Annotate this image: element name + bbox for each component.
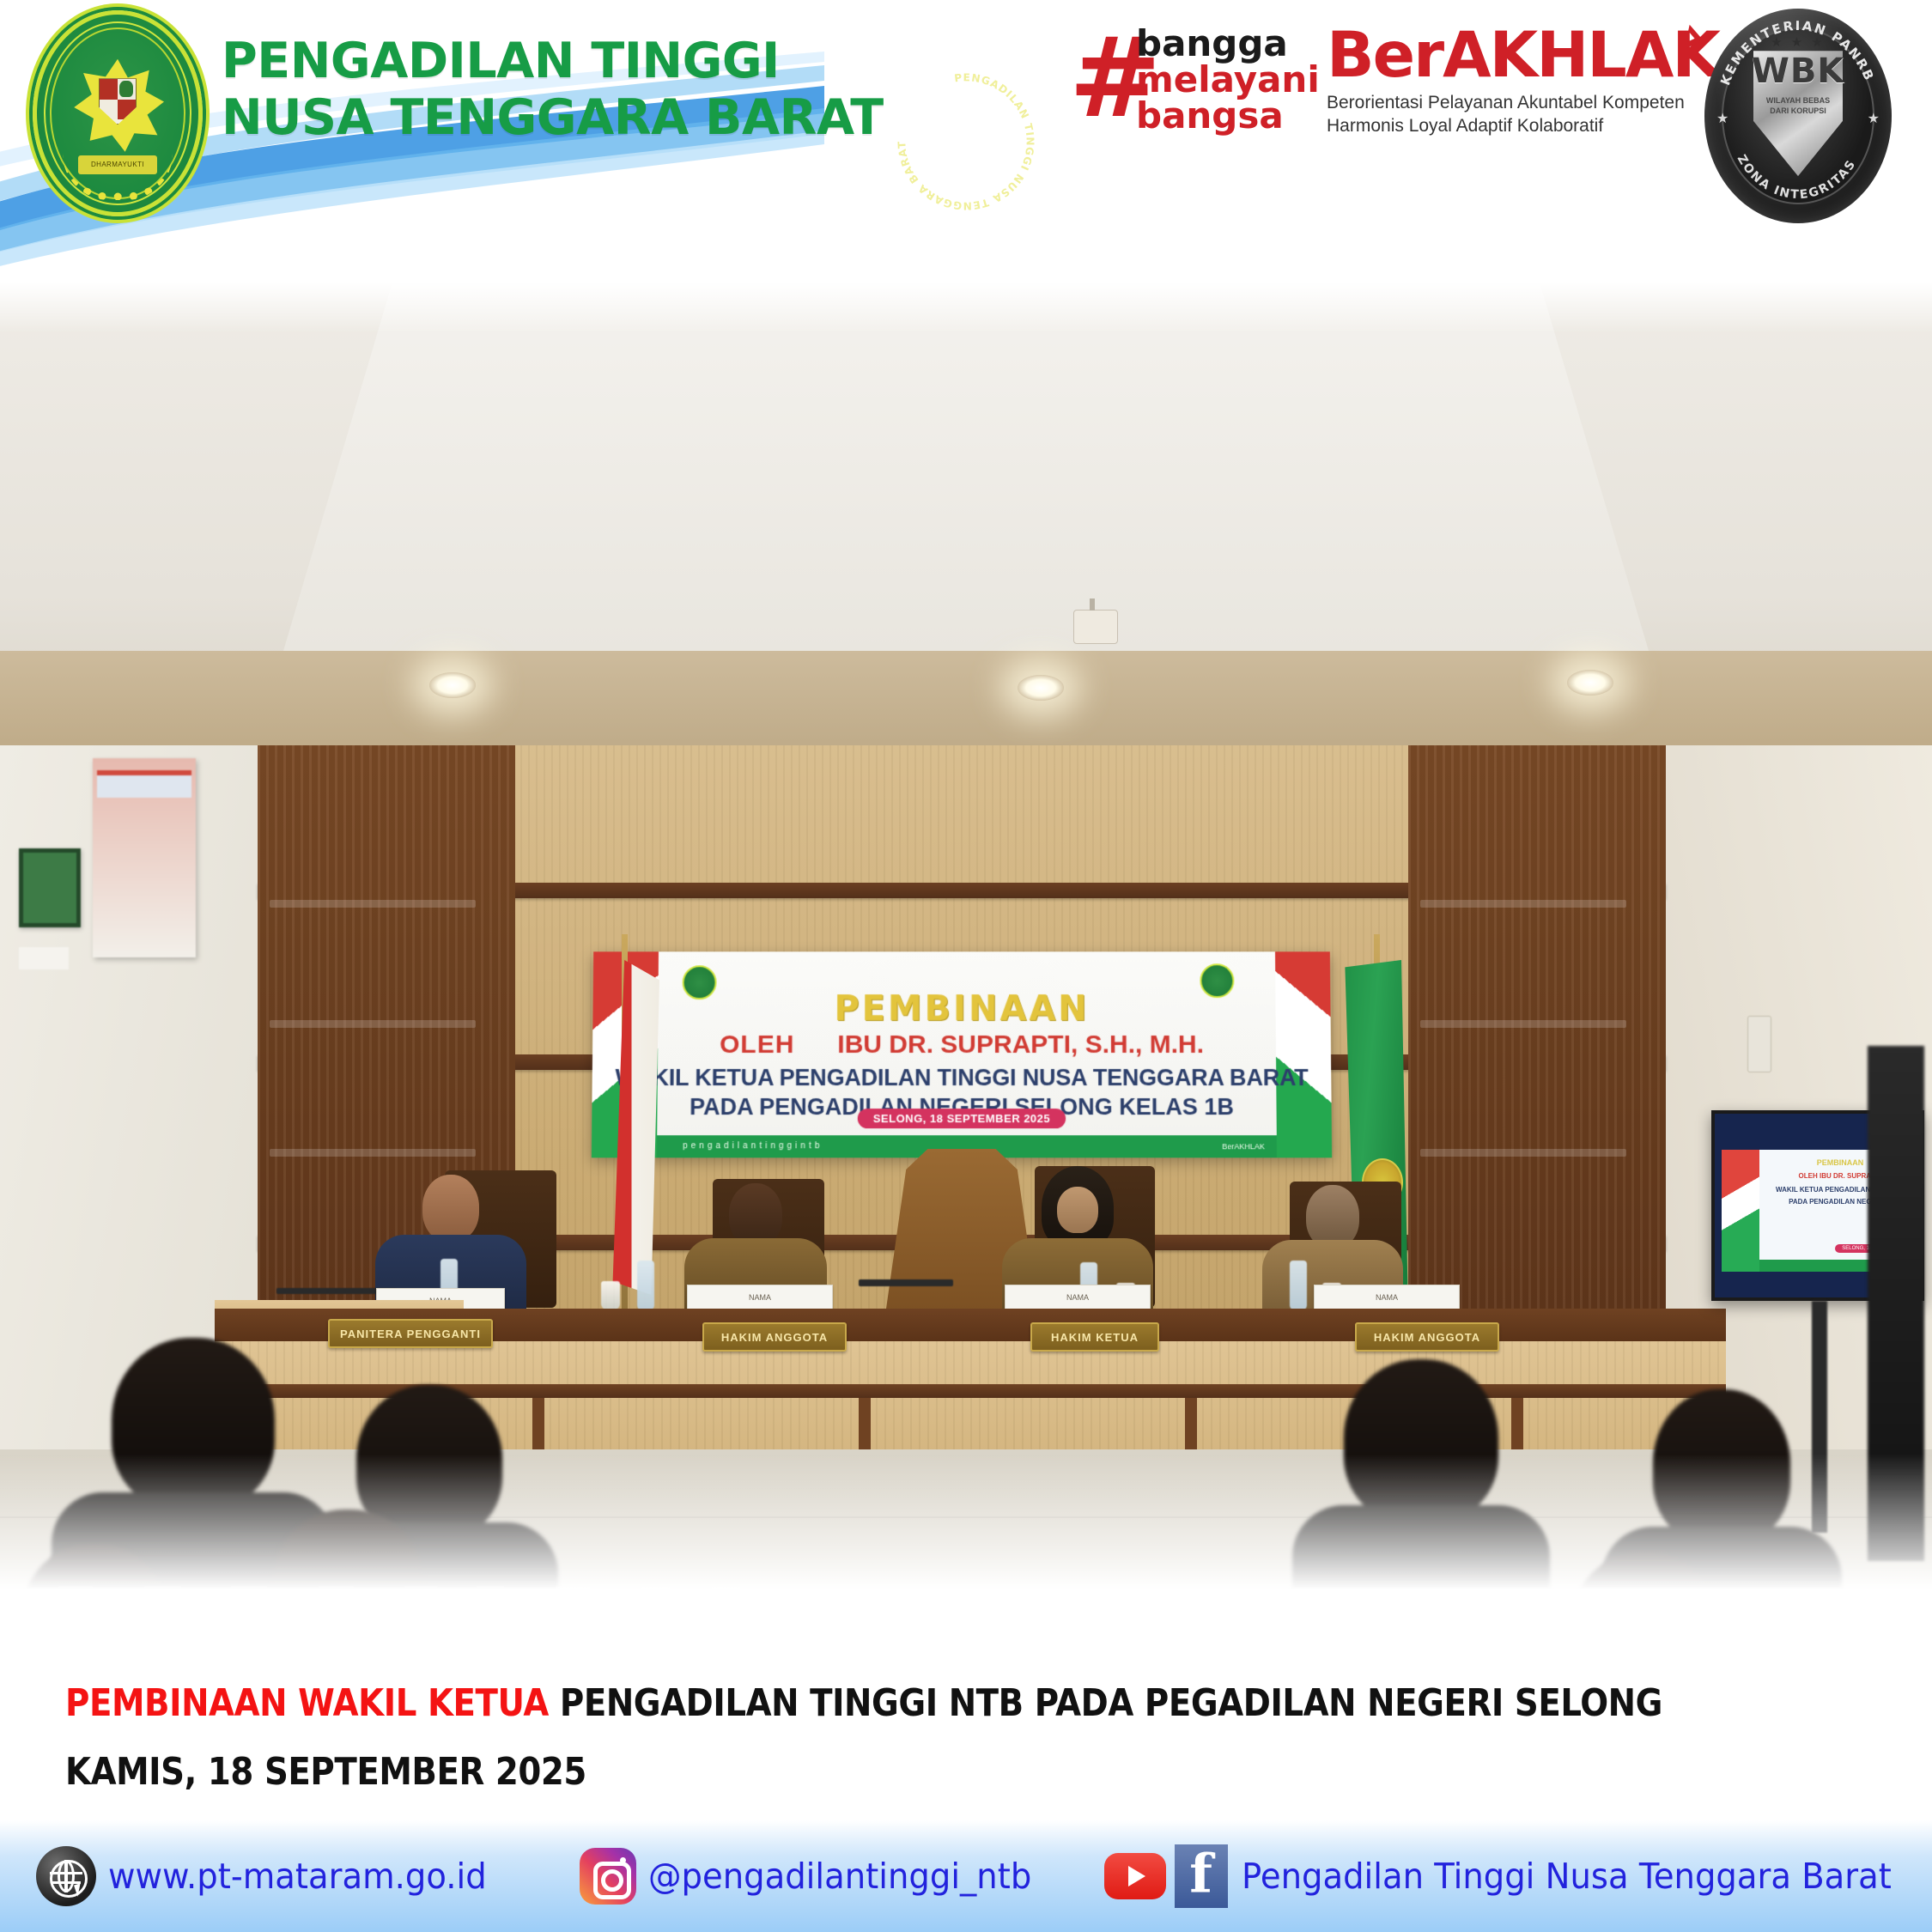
event-photograph: PEMBINAAN OLEH IBU DR. SUPRAPTI, S.H., M… xyxy=(0,282,1932,1608)
microphone xyxy=(859,1279,953,1286)
wbk-right-star-icon: ★ xyxy=(1868,110,1880,127)
wbk-sub-line-2: DARI KORUPSI xyxy=(1770,106,1826,115)
ceiling-light xyxy=(429,672,476,698)
event-backdrop-banner: PEMBINAAN OLEH IBU DR. SUPRAPTI, S.H., M… xyxy=(592,951,1332,1157)
wall-ac-unit xyxy=(1747,1016,1771,1072)
instagram-icon xyxy=(580,1848,636,1905)
court-seal-logo: DHARMAYUKTI xyxy=(33,10,203,216)
drinking-glass xyxy=(601,1281,620,1310)
berakhlak-values-line-2: Harmonis Loyal Adaptif Kolaboratif xyxy=(1327,115,1687,138)
title-line-2: NUSA TENGGARA BARAT xyxy=(222,89,926,146)
banner-by-label: OLEH xyxy=(720,1030,795,1059)
wbk-zona-integritas-badge: KEMENTERIAN PANRB ZONA INTEGRITAS ★ ★ ★ … xyxy=(1704,9,1892,223)
website-contact[interactable]: www.pt-mataram.go.id xyxy=(36,1846,511,1906)
ceiling-light xyxy=(1018,675,1064,701)
youtube-icon[interactable] xyxy=(1104,1853,1166,1899)
desk-nameplate: NAMA xyxy=(1005,1285,1151,1310)
banner-date-pill: SELONG, 18 SEPTEMBER 2025 xyxy=(858,1109,1066,1128)
page-title: PENGADILAN TINGGI NUSA TENGGARA BARAT xyxy=(222,33,926,146)
desk-nameplate: NAMA xyxy=(687,1285,833,1310)
bench-plate-panitera: PANITERA PENGGANTI xyxy=(328,1319,493,1348)
banner-social-handles: pengadilantinggintb xyxy=(657,1141,823,1151)
wbk-title: WBK xyxy=(1752,52,1845,91)
water-bottle xyxy=(637,1261,654,1310)
instagram-contact[interactable]: @pengadilantinggi_ntb xyxy=(580,1848,1056,1905)
caption-line-1: PEMBINAAN WAKIL KETUA PENGADILAN TINGGI … xyxy=(65,1681,1662,1725)
instagram-handle[interactable]: @pengadilantinggi_ntb xyxy=(648,1856,1031,1897)
page-header: DHARMAYUKTI PENGADILAN TINGGI NUSA TENGG… xyxy=(0,0,1932,283)
globe-icon xyxy=(36,1846,96,1906)
berakhlak-values-line-1: Berorientasi Pelayanan Akuntabel Kompete… xyxy=(1327,92,1687,115)
bangga-line-1: bangga xyxy=(1136,26,1320,62)
banner-role-line: WAKIL KETUA PENGADILAN TINGGI NUSA TENGG… xyxy=(592,1065,1332,1091)
caption-rest: PENGADILAN TINGGI NTB PADA PEGADILAN NEG… xyxy=(549,1681,1662,1725)
bench-plate-hakim-ketua: HAKIM KETUA xyxy=(1030,1322,1159,1352)
facebook-page-name[interactable]: Pengadilan Tinggi Nusa Tenggara Barat xyxy=(1242,1856,1892,1897)
facebook-icon[interactable] xyxy=(1175,1844,1228,1908)
website-url[interactable]: www.pt-mataram.go.id xyxy=(108,1856,487,1897)
wbk-stars-icon: ★ ★ ★ xyxy=(1771,34,1826,50)
berakhlak-wordmark: BerAKHLAK xyxy=(1327,19,1719,92)
ceiling-light xyxy=(1567,670,1613,696)
banner-footer-right: BerAKHLAK xyxy=(1222,1135,1265,1157)
banner-speaker-name: IBU DR. SUPRAPTI, S.H., M.H. xyxy=(837,1030,1204,1059)
bench-plate-hakim-anggota-right: HAKIM ANGGOTA xyxy=(1355,1322,1499,1352)
bangga-line-2: melayani xyxy=(1136,62,1320,98)
title-line-1: PENGADILAN TINGGI xyxy=(222,33,926,89)
wall-poster xyxy=(93,758,196,957)
banner-title: PEMBINAAN xyxy=(592,989,1330,1029)
seal-scroll-text: DHARMAYUKTI xyxy=(78,155,157,174)
bangga-line-3: bangsa xyxy=(1136,98,1320,134)
social-media-contact[interactable]: Pengadilan Tinggi Nusa Tenggara Barat xyxy=(1104,1844,1932,1908)
cursor-icon xyxy=(74,1883,84,1897)
bench-plate-hakim-anggota-left: HAKIM ANGGOTA xyxy=(702,1322,847,1352)
ceiling-inset xyxy=(283,282,1649,651)
desk-nameplate: NAMA xyxy=(1314,1285,1460,1310)
projector-icon xyxy=(1073,610,1118,644)
water-bottle xyxy=(1290,1261,1307,1310)
caption-line-2: KAMIS, 18 SEPTEMBER 2025 xyxy=(65,1750,586,1794)
caption-highlight: PEMBINAAN WAKIL KETUA xyxy=(65,1681,549,1725)
wall-small-label xyxy=(19,947,69,969)
berakhlak-logo: BerAKHLAK › Berorientasi Pelayanan Akunt… xyxy=(1327,24,1687,138)
wbk-sub-line-1: WILAYAH BEBAS xyxy=(1766,96,1830,105)
hashtag-icon: # xyxy=(1069,31,1143,132)
wall-framed-certificate xyxy=(19,848,81,927)
contact-footer-bar: www.pt-mataram.go.id @pengadilantinggi_n… xyxy=(0,1820,1932,1932)
bangga-melayani-bangsa-logo: # bangga melayani bangsa xyxy=(1069,21,1292,149)
wbk-left-star-icon: ★ xyxy=(1716,110,1728,127)
photo-caption: PEMBINAAN WAKIL KETUA PENGADILAN TINGGI … xyxy=(0,1614,1932,1820)
